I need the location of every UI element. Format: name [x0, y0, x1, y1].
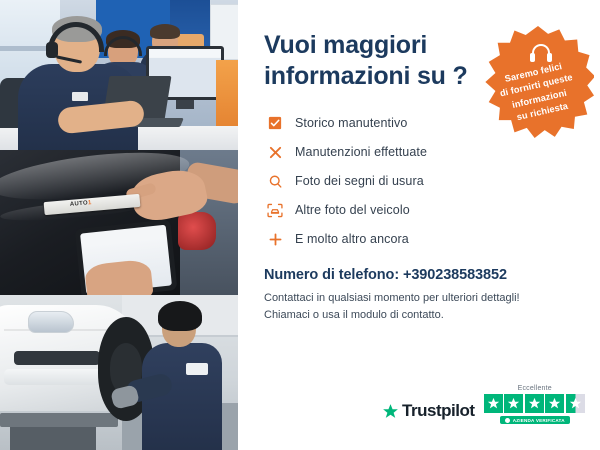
trustpilot-star-icon — [382, 403, 399, 420]
car-scan-icon — [264, 200, 286, 220]
star-half-5 — [566, 394, 585, 413]
tail-light — [178, 212, 216, 250]
rating-label: Eccellente — [518, 385, 552, 392]
monitor-stand — [176, 100, 194, 109]
star-filled-2 — [504, 394, 523, 413]
car-grille — [14, 351, 100, 365]
photo-collage: AUTO1 — [0, 0, 238, 450]
headline-line-1: Vuoi maggiori — [264, 31, 427, 59]
crossed-tools-icon — [264, 142, 286, 162]
list-item-label: Foto dei segni di usura — [295, 174, 424, 188]
trustpilot-wordmark: Trustpilot — [402, 401, 474, 421]
trustpilot-logo: Trustpilot — [382, 401, 474, 424]
list-item: Manutenzioni effettuate — [264, 142, 578, 162]
star-rating — [484, 394, 587, 413]
contact-note: Contattaci in qualsiasi momento per ulte… — [264, 290, 578, 323]
agent-one-name-badge — [72, 92, 88, 101]
list-item: Altre foto del veicolo — [264, 200, 578, 220]
contact-note-line-1: Contattaci in qualsiasi momento per ulte… — [264, 290, 578, 307]
trustpilot-rating[interactable]: Trustpilot Eccellente AZIENDA VERIFICATA — [382, 385, 586, 424]
list-item: Foto dei segni di usura — [264, 171, 578, 191]
headline-line-2: informazioni su ? — [264, 61, 484, 92]
list-item: E molto altro ancora — [264, 229, 578, 249]
plus-icon — [264, 229, 286, 249]
star-filled-1 — [484, 394, 503, 413]
page-title: Vuoi maggiori informazioni su ? — [264, 30, 484, 91]
check-icon — [505, 418, 510, 423]
mechanic-wheel-inspection-photo — [0, 295, 238, 450]
content-panel: Vuoi maggiori informazioni su ? Storico … — [238, 0, 600, 450]
vehicle-lift-base — [10, 427, 96, 450]
list-item-label: Altre foto del veicolo — [295, 203, 410, 217]
promo-banner: AUTO1 Vuoi maggiori informazio — [0, 0, 600, 450]
list-item-label: Manutenzioni effettuate — [295, 145, 427, 159]
status-badge: Saremo felici di fornirti queste informa… — [482, 26, 594, 138]
verified-label: AZIENDA VERIFICATA — [513, 418, 565, 423]
vehicle-damage-inspection-photo: AUTO1 — [0, 150, 238, 295]
verified-badge: AZIENDA VERIFICATA — [500, 416, 570, 424]
star-filled-4 — [545, 394, 564, 413]
list-item-label: E molto altro ancora — [295, 232, 409, 246]
car-headlight — [28, 311, 74, 333]
mechanic-hair — [158, 301, 202, 331]
headset-icon — [530, 44, 552, 64]
star-filled-3 — [525, 394, 544, 413]
phone-number[interactable]: Numero di telefono: +390238583852 — [264, 267, 578, 283]
vehicle-lift-arm — [0, 413, 118, 427]
list-item-label: Storico manutentivo — [295, 116, 407, 130]
checkbox-checked-icon — [264, 113, 286, 133]
contact-note-line-2: Chiamaci o usa il modulo di contatto. — [264, 307, 578, 324]
mechanic-uniform-logo — [186, 363, 208, 375]
call-center-agents-photo — [0, 0, 238, 150]
agent-three-hair — [150, 24, 180, 39]
trustpilot-score-block: Eccellente AZIENDA VERIFICATA — [484, 385, 587, 424]
magnifier-icon — [264, 171, 286, 191]
